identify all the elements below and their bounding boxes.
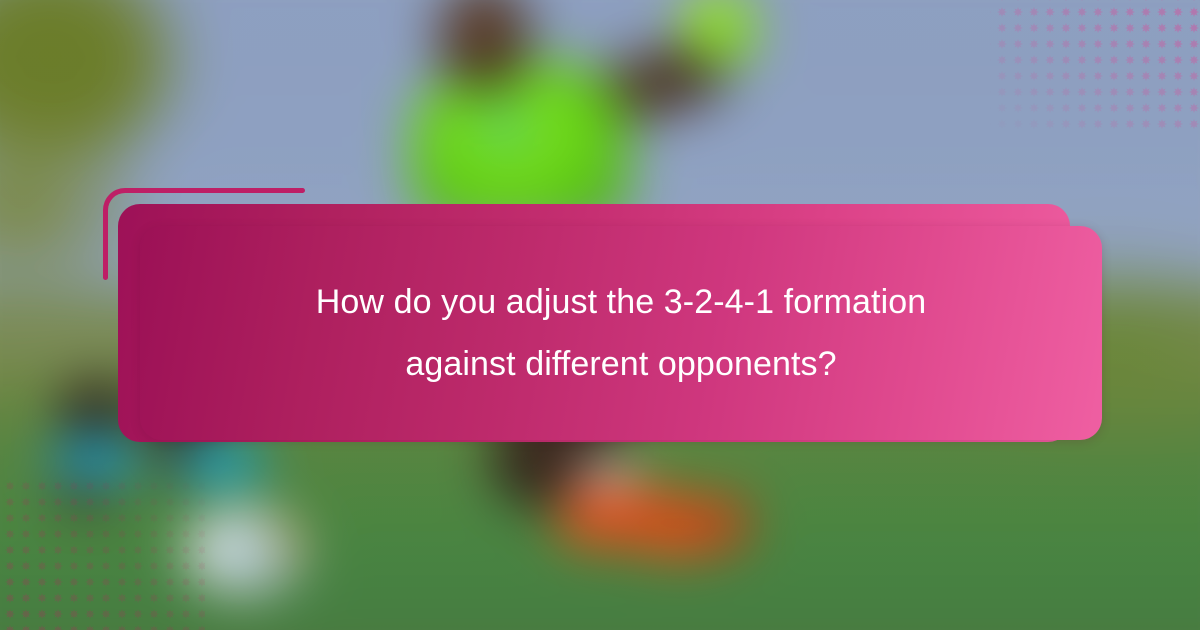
share-card-canvas: How do you adjust the 3-2-4-1 formation … [0, 0, 1200, 630]
card-question-title: How do you adjust the 3-2-4-1 formation … [241, 271, 1001, 395]
question-card: How do you adjust the 3-2-4-1 formation … [140, 226, 1102, 440]
